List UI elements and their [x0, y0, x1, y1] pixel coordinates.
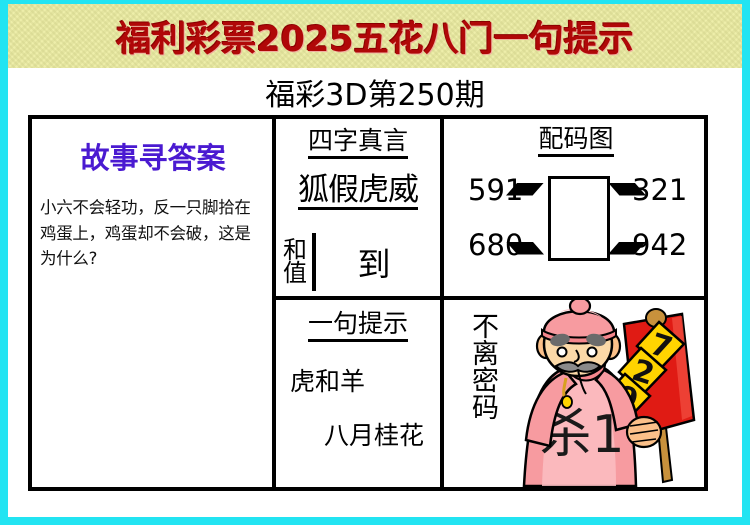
page-root: 福利彩票2025五花八门一句提示 福彩3D第250期 故事寻答案 小六不会轻功，…: [0, 0, 750, 525]
sum-label-box: 和 值: [278, 233, 316, 291]
story-panel-title: 故事寻答案: [40, 135, 266, 177]
code-map-panel: 配码图 591 321 680 942: [444, 119, 708, 296]
header-banner: 福利彩票2025五花八门一句提示: [8, 4, 742, 68]
hint-line-2: 八月桂花: [324, 416, 440, 452]
subtitle-bar: 福彩3D第250期: [8, 68, 742, 115]
story-panel: 故事寻答案 小六不会轻功，反一只脚拾在鸡蛋上，鸡蛋却不会破，这是为什么?: [32, 119, 276, 487]
four-char-idiom-wrap: 狐假虎威: [276, 173, 440, 210]
sum-value: 到: [316, 238, 440, 286]
sum-label-char-2: 值: [283, 262, 307, 285]
issue-subtitle: 福彩3D第250期: [265, 70, 484, 114]
story-panel-body: 小六不会轻功，反一只脚拾在鸡蛋上，鸡蛋却不会破，这是为什么?: [40, 195, 266, 272]
page-title: 福利彩票2025五花八门一句提示: [116, 11, 633, 62]
code-map-title: 配码图: [538, 125, 613, 157]
code-map-grid: 591 321 680 942: [444, 157, 708, 277]
four-char-idiom: 狐假虎威: [298, 173, 418, 210]
secret-code-panel: 不离密码 7 2: [444, 296, 708, 487]
hint-panel: 一句提示 虎和羊 八月桂花: [276, 296, 444, 487]
mascot-illustration: 7 2 9 杀1: [504, 300, 708, 487]
hint-panel-title: 一句提示: [308, 310, 408, 342]
code-center-box: [548, 176, 610, 261]
hint-title-wrap: 一句提示: [276, 310, 440, 342]
code-map-title-wrap: 配码图: [444, 125, 708, 157]
secret-code-vertical-text: 不离密码: [462, 312, 502, 472]
hint-line-1: 虎和羊: [290, 362, 440, 398]
sum-value-row: 和 值 到: [276, 231, 440, 292]
content-frame: 故事寻答案 小六不会轻功，反一只脚拾在鸡蛋上，鸡蛋却不会破，这是为什么? 四字真…: [28, 115, 708, 491]
four-char-title: 四字真言: [308, 127, 408, 159]
four-char-title-wrap: 四字真言: [276, 127, 440, 159]
four-char-panel: 四字真言 狐假虎威 和 值 到: [276, 119, 444, 296]
